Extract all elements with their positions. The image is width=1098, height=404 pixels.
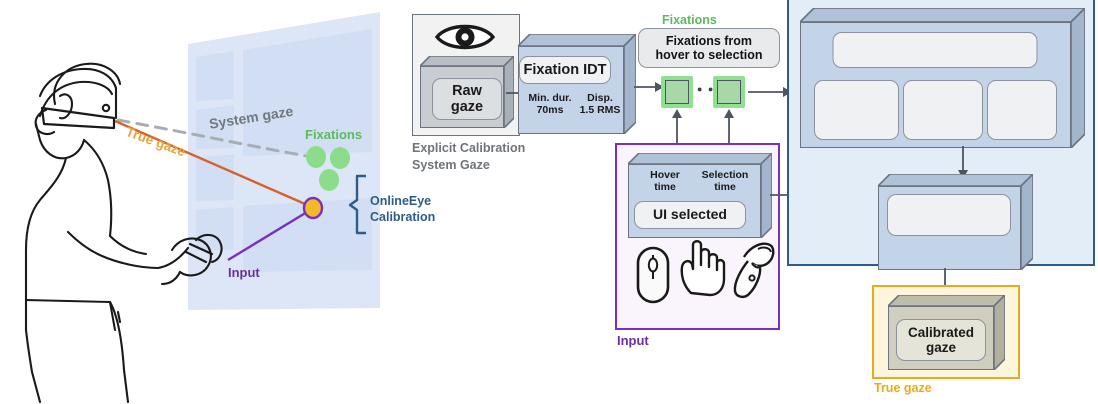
fixation-criterion-0 bbox=[814, 80, 899, 140]
explicit-calibration-caption-line1: Explicit Calibration bbox=[412, 140, 525, 157]
fixation-idt-param-1-value: 1.5 RMS bbox=[574, 104, 626, 116]
fixation-idt-param-0-name: Min. dur. bbox=[524, 92, 576, 104]
input-label-scene: Input bbox=[228, 265, 260, 280]
calibrated-gaze-line2: gaze bbox=[908, 340, 974, 355]
selection-time-line1: Selection bbox=[694, 169, 756, 181]
mouse-icon bbox=[635, 245, 671, 305]
explicit-calibration-caption-line2: System Gaze bbox=[412, 157, 525, 174]
hover-time-label: Hover time bbox=[636, 169, 694, 193]
fixations-box-line2: hover to selection bbox=[656, 48, 763, 62]
output-panel-label: True gaze bbox=[874, 381, 932, 395]
onlineeye-line2: Calibration bbox=[370, 209, 435, 225]
fixation-criterion-1 bbox=[903, 80, 983, 140]
calibrated-gaze-box: Calibrated gaze bbox=[888, 295, 1005, 370]
hand-pointer-icon bbox=[678, 237, 728, 299]
ui-selected-label: UI selected bbox=[634, 201, 746, 229]
fixations-box-line1: Fixations from bbox=[656, 34, 763, 48]
fixation-criterion-2 bbox=[987, 80, 1057, 140]
raw-gaze-box: Raw gaze bbox=[420, 56, 514, 128]
fixation-idt-param-1-name: Disp. bbox=[574, 92, 626, 104]
raw-gaze-line1: Raw bbox=[451, 83, 483, 99]
arrow-idt-to-fixations bbox=[634, 80, 664, 94]
input-panel-label: Input bbox=[617, 333, 649, 348]
fixation-square-1 bbox=[713, 76, 745, 108]
raw-gaze-line2: gaze bbox=[451, 99, 483, 115]
arrow-fixations-to-selection bbox=[748, 85, 792, 99]
hover-time-line1: Hover bbox=[636, 169, 694, 181]
rls-calibration-box bbox=[878, 174, 1033, 270]
onlineeye-calibration-label-scene: OnlineEye Calibration bbox=[370, 193, 435, 226]
explicit-calibration-caption: Explicit Calibration System Gaze bbox=[412, 140, 525, 173]
fixation-selection-title bbox=[833, 32, 1038, 68]
fixation-selection-box bbox=[800, 8, 1085, 148]
virtual-ui-panel-icon bbox=[0, 0, 400, 404]
fixation-idt-param-0: Min. dur. 70ms bbox=[524, 92, 576, 116]
calibrated-gaze-line1: Calibrated bbox=[908, 325, 974, 340]
selection-time-line2: time bbox=[694, 181, 756, 193]
rls-calibration-title bbox=[887, 194, 1011, 236]
ui-selected-box: Hover time Selection time UI selected bbox=[628, 153, 772, 238]
fixations-group-label: Fixations bbox=[662, 13, 717, 27]
hover-time-line2: time bbox=[636, 181, 694, 193]
raw-gaze-label: Raw gaze bbox=[432, 78, 502, 120]
fixation-idt-param-1: Disp. 1.5 RMS bbox=[574, 92, 626, 116]
fixation-idt-param-0-value: 70ms bbox=[524, 104, 576, 116]
fixation-square-0 bbox=[661, 76, 693, 108]
selection-time-label: Selection time bbox=[694, 169, 756, 193]
fixation-idt-box: Fixation IDT Min. dur. 70ms Disp. 1.5 RM… bbox=[518, 34, 636, 134]
onlineeye-line1: OnlineEye bbox=[370, 193, 435, 209]
eye-icon bbox=[434, 20, 496, 54]
fixations-label-scene: Fixations bbox=[305, 127, 362, 142]
scene-illustration: True gaze System gaze Fixations Input On… bbox=[0, 0, 400, 404]
fixations-from-hover-to-selection-box: Fixations from hover to selection bbox=[638, 28, 780, 68]
fixation-idt-title: Fixation IDT bbox=[519, 56, 611, 84]
calibrated-gaze-label: Calibrated gaze bbox=[896, 319, 986, 361]
vr-controller-icon bbox=[728, 237, 776, 301]
